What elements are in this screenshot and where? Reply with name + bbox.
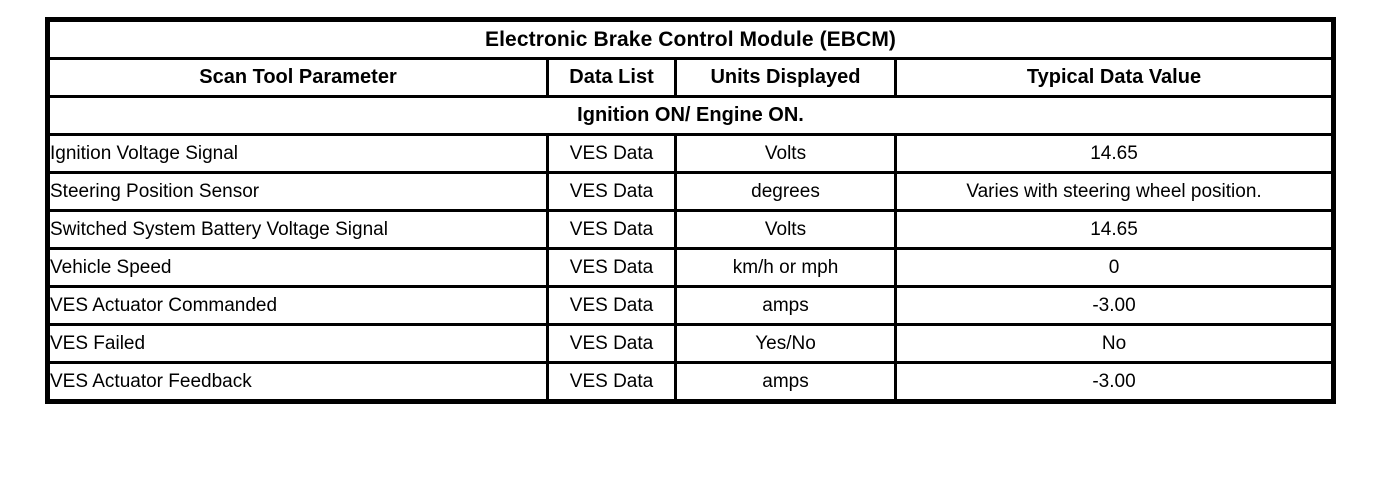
cell-parameter: Steering Position Sensor (48, 173, 548, 211)
table-row: Vehicle Speed VES Data km/h or mph 0 (48, 249, 1334, 287)
cell-value: Varies with steering wheel position. (896, 173, 1334, 211)
cell-data-list: VES Data (548, 325, 676, 363)
cell-value: -3.00 (896, 287, 1334, 325)
page-root: Electronic Brake Control Module (EBCM) S… (0, 0, 1392, 494)
cell-value: -3.00 (896, 363, 1334, 402)
table-row: Steering Position Sensor VES Data degree… (48, 173, 1334, 211)
ebcm-table-container: Electronic Brake Control Module (EBCM) S… (45, 17, 1331, 404)
table-row: Ignition Voltage Signal VES Data Volts 1… (48, 135, 1334, 173)
cell-units: amps (676, 287, 896, 325)
cell-data-list: VES Data (548, 249, 676, 287)
cell-parameter: VES Failed (48, 325, 548, 363)
section-heading-row: Ignition ON/ Engine ON. (48, 97, 1334, 135)
cell-value: 14.65 (896, 211, 1334, 249)
section-heading-ignition-on-engine-on: Ignition ON/ Engine ON. (48, 97, 1334, 135)
table-row: VES Actuator Feedback VES Data amps -3.0… (48, 363, 1334, 402)
cell-parameter: Ignition Voltage Signal (48, 135, 548, 173)
column-header-scan-tool-parameter: Scan Tool Parameter (48, 59, 548, 97)
cell-data-list: VES Data (548, 173, 676, 211)
cell-data-list: VES Data (548, 287, 676, 325)
column-header-row: Scan Tool Parameter Data List Units Disp… (48, 59, 1334, 97)
cell-value: No (896, 325, 1334, 363)
table-title: Electronic Brake Control Module (EBCM) (48, 20, 1334, 59)
cell-units: km/h or mph (676, 249, 896, 287)
cell-parameter: Switched System Battery Voltage Signal (48, 211, 548, 249)
cell-units: amps (676, 363, 896, 402)
table-body: Electronic Brake Control Module (EBCM) S… (48, 20, 1334, 402)
cell-parameter: VES Actuator Feedback (48, 363, 548, 402)
table-row: VES Actuator Commanded VES Data amps -3.… (48, 287, 1334, 325)
table-row: Switched System Battery Voltage Signal V… (48, 211, 1334, 249)
cell-data-list: VES Data (548, 211, 676, 249)
column-header-data-list: Data List (548, 59, 676, 97)
cell-data-list: VES Data (548, 135, 676, 173)
table-title-row: Electronic Brake Control Module (EBCM) (48, 20, 1334, 59)
cell-units: Volts (676, 135, 896, 173)
cell-value: 0 (896, 249, 1334, 287)
cell-units: Yes/No (676, 325, 896, 363)
cell-units: degrees (676, 173, 896, 211)
column-header-typical-data-value: Typical Data Value (896, 59, 1334, 97)
cell-value: 14.65 (896, 135, 1334, 173)
ebcm-parameter-table: Electronic Brake Control Module (EBCM) S… (45, 17, 1336, 404)
cell-parameter: Vehicle Speed (48, 249, 548, 287)
cell-data-list: VES Data (548, 363, 676, 402)
cell-parameter: VES Actuator Commanded (48, 287, 548, 325)
column-header-units-displayed: Units Displayed (676, 59, 896, 97)
cell-units: Volts (676, 211, 896, 249)
table-row: VES Failed VES Data Yes/No No (48, 325, 1334, 363)
